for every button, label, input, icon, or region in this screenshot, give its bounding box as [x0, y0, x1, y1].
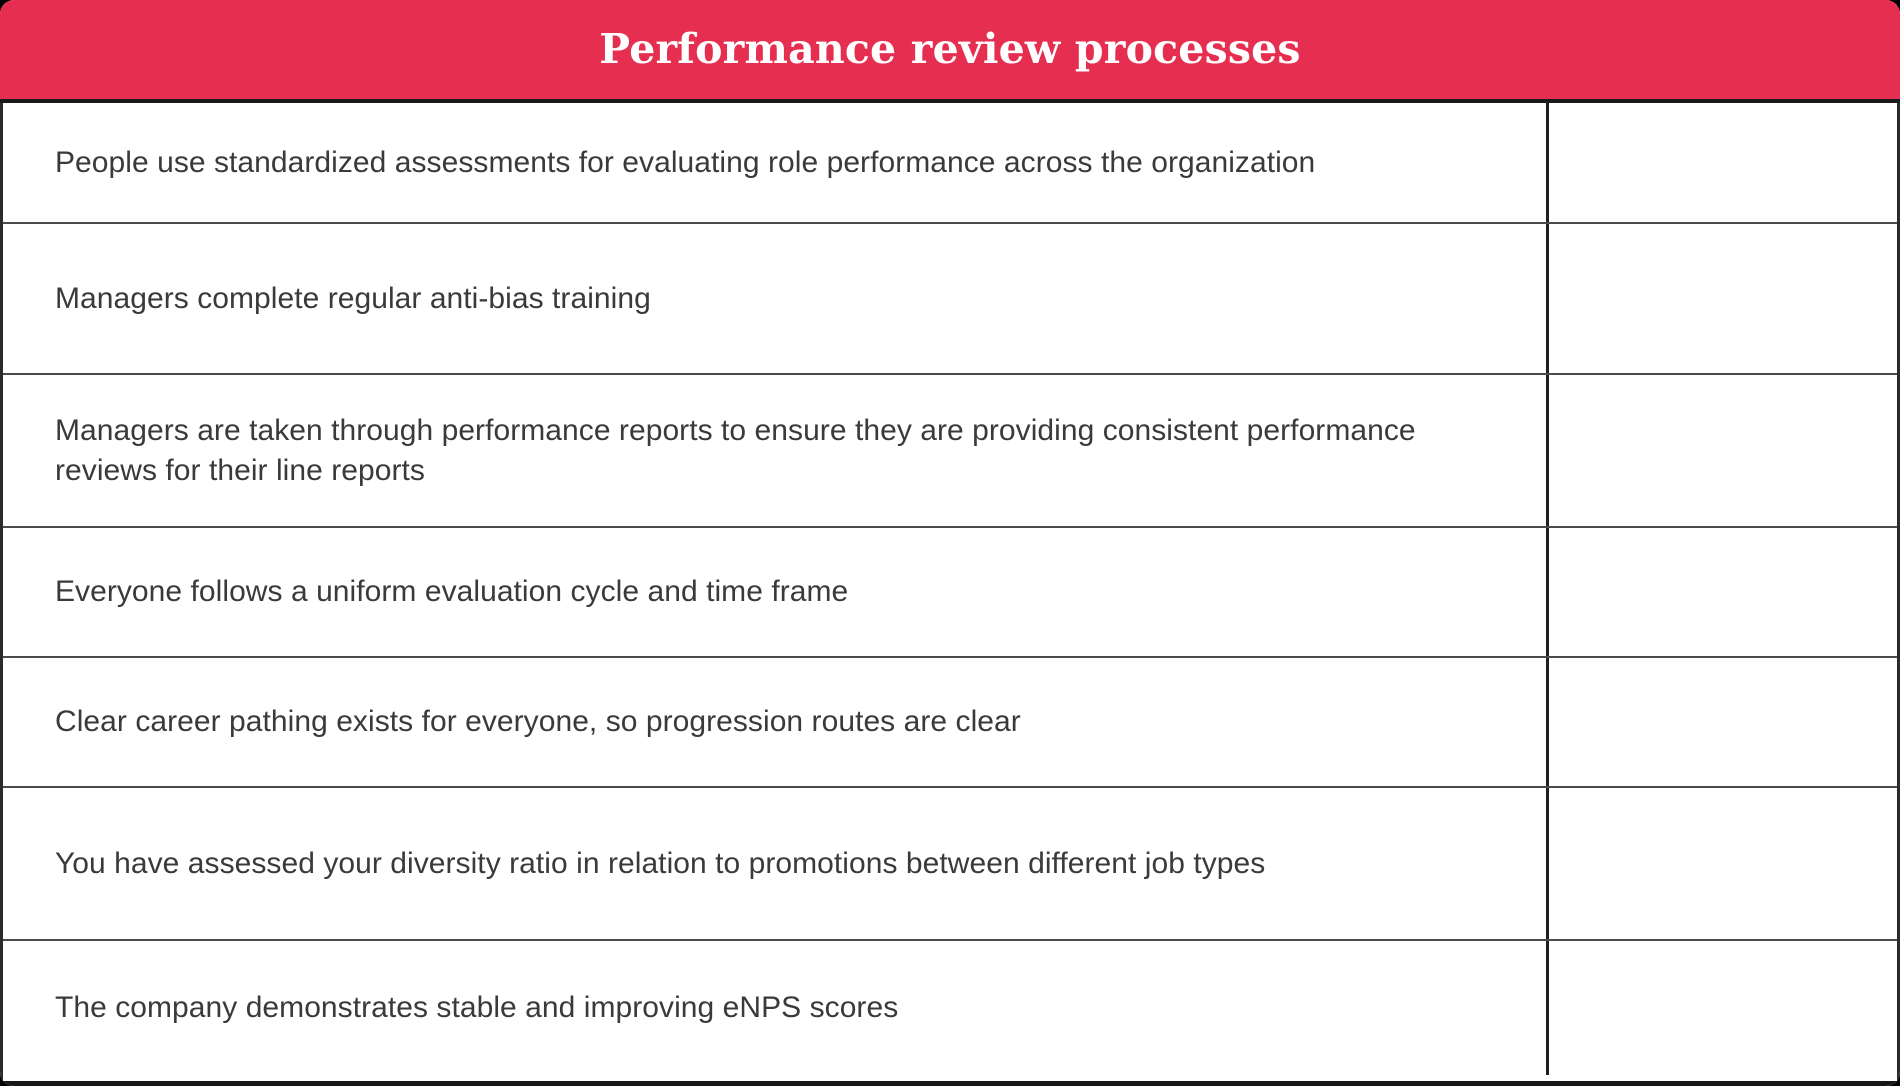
card-header: Performance review processes — [0, 0, 1900, 103]
row-statement-cell: The company demonstrates stable and impr… — [3, 941, 1546, 1075]
performance-review-checklist-card: Performance review processes People use … — [0, 0, 1900, 1086]
row-statement-cell: You have assessed your diversity ratio i… — [3, 788, 1546, 939]
row-statement-text: Managers are taken through performance r… — [55, 411, 1512, 491]
row-statement-text: Clear career pathing exists for everyone… — [55, 702, 1021, 742]
row-checkbox-cell[interactable] — [1546, 375, 1897, 526]
row-statement-cell: Managers complete regular anti-bias trai… — [3, 224, 1546, 373]
row-statement-cell: Managers are taken through performance r… — [3, 375, 1546, 526]
row-statement-cell: Everyone follows a uniform evaluation cy… — [3, 528, 1546, 656]
row-checkbox-cell[interactable] — [1546, 788, 1897, 939]
row-checkbox-cell[interactable] — [1546, 528, 1897, 656]
row-statement-text: Managers complete regular anti-bias trai… — [55, 279, 651, 319]
row-checkbox-cell[interactable] — [1546, 941, 1897, 1075]
checkbox-mark[interactable] — [1549, 658, 1897, 786]
table-row: You have assessed your diversity ratio i… — [3, 788, 1897, 941]
checkbox-mark[interactable] — [1549, 941, 1897, 1075]
table-row: Clear career pathing exists for everyone… — [3, 658, 1897, 788]
row-checkbox-cell[interactable] — [1546, 224, 1897, 373]
checklist-table: People use standardized assessments for … — [0, 103, 1900, 1086]
checkbox-mark[interactable] — [1549, 528, 1897, 656]
checkbox-mark[interactable] — [1549, 103, 1897, 222]
table-row: The company demonstrates stable and impr… — [3, 941, 1897, 1075]
table-row: People use standardized assessments for … — [3, 103, 1897, 224]
table-row: Managers complete regular anti-bias trai… — [3, 224, 1897, 375]
checkbox-mark[interactable] — [1549, 788, 1897, 939]
row-statement-text: Everyone follows a uniform evaluation cy… — [55, 572, 848, 612]
row-statement-cell: People use standardized assessments for … — [3, 103, 1546, 222]
row-statement-text: The company demonstrates stable and impr… — [55, 988, 898, 1028]
table-row: Managers are taken through performance r… — [3, 375, 1897, 528]
row-statement-text: People use standardized assessments for … — [55, 143, 1315, 183]
row-statement-text: You have assessed your diversity ratio i… — [55, 844, 1265, 884]
checkbox-mark[interactable] — [1549, 224, 1897, 373]
row-statement-cell: Clear career pathing exists for everyone… — [3, 658, 1546, 786]
checkbox-mark[interactable] — [1549, 375, 1897, 526]
row-checkbox-cell[interactable] — [1546, 103, 1897, 222]
row-checkbox-cell[interactable] — [1546, 658, 1897, 786]
table-row: Everyone follows a uniform evaluation cy… — [3, 528, 1897, 658]
page-title: Performance review processes — [599, 29, 1300, 70]
